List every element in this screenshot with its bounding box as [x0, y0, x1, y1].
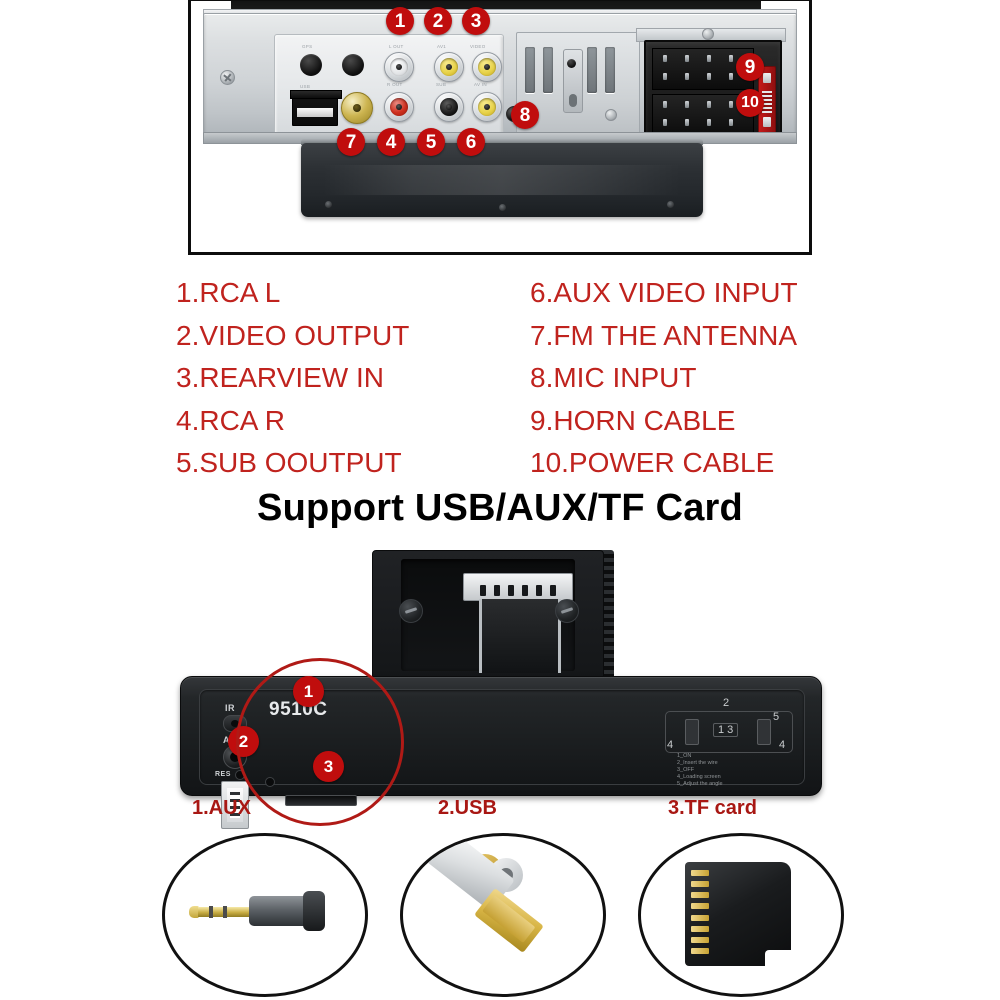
legend-item-9: 9.HORN CABLE: [530, 400, 798, 443]
legend-item-5: 5.SUB OOUTPUT: [176, 442, 409, 485]
silk-label-av-in: AV IN: [474, 82, 487, 87]
microsd-notch: [765, 950, 791, 966]
sled-screw: [667, 201, 674, 208]
legend-item-10: 10.POWER CABLE: [530, 442, 798, 485]
instruction-device-right: [757, 719, 771, 745]
stereo-chassis: GPS USB L OUT AV1 VIDEO R OUT SUB AV IN: [203, 13, 797, 139]
callout-badge-5-text: 5: [426, 133, 437, 152]
rca-jack-l-out: [384, 52, 414, 82]
microsd-body: [685, 862, 791, 966]
usb-port: [292, 94, 338, 126]
cradle-screw-right: [555, 599, 579, 623]
rca-pin: [484, 64, 490, 70]
legend-column-left: 1.RCA L 2.VIDEO OUTPUT 3.REARVIEW IN 4.R…: [176, 272, 409, 485]
ribbon-cable: [479, 599, 561, 673]
callout-badge-3: 3: [462, 7, 490, 35]
legend-column-right: 6.AUX VIDEO INPUT 7.FM THE ANTENNA 8.MIC…: [530, 272, 798, 485]
callout-badge-1: 1: [386, 7, 414, 35]
callout-badge-3-text: 3: [471, 12, 482, 31]
microsd-card-icon: [641, 836, 841, 994]
silk-label-gps: GPS: [302, 44, 312, 49]
vent-slot: [543, 47, 553, 93]
iso-mount-screw: [702, 28, 714, 40]
callout-badge-6: 6: [457, 128, 485, 156]
bracket-pilot-hole: [567, 59, 576, 68]
instruction-line-2: 2_Insert the wire: [677, 760, 723, 767]
rca-pin: [446, 64, 452, 70]
callout-badge-6-text: 6: [466, 133, 477, 152]
vent-slot: [587, 47, 597, 93]
sled-screw: [499, 204, 506, 211]
accessory-label-tf: 3.TF card: [668, 797, 757, 820]
callout-badge-8: 8: [511, 101, 539, 129]
silk-label-sub: SUB: [436, 82, 446, 87]
callout-badge-1-text: 1: [395, 12, 406, 31]
callout-badge-2: 2: [424, 7, 452, 35]
instruction-text-list: 1_ON 2_Insert the wire 3_OFF 4_Loading s…: [677, 753, 723, 788]
vent-slot: [525, 47, 535, 93]
vent-slot: [605, 47, 615, 93]
mounting-sled: [301, 143, 703, 217]
instruction-line-1: 1_ON: [677, 753, 723, 760]
instruction-num-4-left: 4: [667, 739, 673, 751]
aux-plug-icon: [165, 836, 365, 994]
instruction-num-5: 5: [773, 711, 779, 723]
vented-bracket-plate: [516, 32, 640, 146]
usb-port-hood: [290, 90, 342, 99]
legend-item-3: 3.REARVIEW IN: [176, 357, 409, 400]
aux-plug-collar: [303, 891, 325, 931]
rca-pin: [446, 104, 452, 110]
legend-item-4: 4.RCA R: [176, 400, 409, 443]
rca-pin: [396, 104, 402, 110]
gps-antenna-hole: [300, 54, 322, 76]
rca-jack-r-out: [384, 92, 414, 122]
rear-panel-photo: GPS USB L OUT AV1 VIDEO R OUT SUB AV IN: [191, 1, 809, 252]
silk-label-l-out: L OUT: [389, 44, 404, 49]
legend-item-1: 1.RCA L: [176, 272, 409, 315]
silk-label-av1: AV1: [437, 44, 446, 49]
rca-jack-sub-out: [434, 92, 464, 122]
rear-panel-photo-frame: GPS USB L OUT AV1 VIDEO R OUT SUB AV IN: [188, 0, 812, 255]
cradle-screw-left: [399, 599, 423, 623]
legend-item-8: 8.MIC INPUT: [530, 357, 798, 400]
instruction-num-center: 1 3: [713, 723, 738, 737]
callout-badge-9: 9: [736, 53, 764, 81]
rca-jack-av1: [434, 52, 464, 82]
usb-flash-drive-icon: [403, 836, 603, 994]
accessory-oval-tf: [638, 833, 844, 997]
callout-badge-10: 10: [736, 89, 764, 117]
callout-badge-7: 7: [337, 128, 365, 156]
screen-cradle: [372, 550, 604, 680]
callout-badge-2-text: 2: [433, 12, 444, 31]
ir-label: IR: [225, 703, 235, 713]
ribbon-cable-connector: [463, 573, 573, 601]
legend-item-7: 7.FM THE ANTENNA: [530, 315, 798, 358]
callout-badge-10-text: 10: [741, 95, 759, 111]
instruction-plate: 2 5 4 4 1 3 1_ON 2_Insert the wire 3_OFF…: [661, 697, 797, 779]
fm-antenna-pin: [353, 104, 361, 112]
microsd-contacts: [691, 870, 709, 954]
port-highlight-circle: [236, 658, 404, 826]
res-label: RES: [215, 771, 231, 778]
silk-label-usb: USB: [300, 84, 310, 89]
legend-item-6: 6.AUX VIDEO INPUT: [530, 272, 798, 315]
accessory-label-usb: 2.USB: [438, 797, 497, 820]
instruction-num-2: 2: [723, 697, 729, 709]
rca-pin: [396, 64, 402, 70]
usb-port-tab: [297, 108, 333, 117]
instruction-line-3: 3_OFF: [677, 767, 723, 774]
rca-pin: [484, 104, 490, 110]
accessory-oval-usb: [400, 833, 606, 997]
instruction-line-4: 4_Loading screen: [677, 774, 723, 781]
accessory-label-aux: 1.AUX: [192, 797, 251, 820]
callout-badge-7-text: 7: [346, 133, 357, 152]
callout-badge-9-text: 9: [745, 58, 756, 77]
cradle-well: [401, 559, 575, 671]
spare-hole: [342, 54, 364, 76]
callout-badge-4-text: 4: [386, 133, 397, 152]
sled-sheen: [323, 165, 681, 195]
rca-jack-video-out: [472, 52, 502, 82]
instruction-num-4-right: 4: [779, 739, 785, 751]
callout-badge-4: 4: [377, 128, 405, 156]
aux-plug-ring: [209, 906, 213, 918]
iso-connector-block: [644, 40, 782, 144]
silk-label-video: VIDEO: [470, 44, 486, 49]
instruction-line-5: 5_Adjust the angle: [677, 781, 723, 788]
callout-badge-5: 5: [417, 128, 445, 156]
instruction-device-left: [685, 719, 699, 745]
section-title: Support USB/AUX/TF Card: [0, 487, 1000, 530]
silk-label-r-out: R OUT: [387, 82, 403, 87]
sled-screw: [325, 201, 332, 208]
accessory-oval-aux: [162, 833, 368, 997]
aux-plug-ring: [223, 906, 227, 918]
bracket-screw: [605, 109, 617, 121]
chassis-screw-left: [220, 70, 235, 85]
legend-item-2: 2.VIDEO OUTPUT: [176, 315, 409, 358]
rca-jack-av-in: [472, 92, 502, 122]
callout-badge-8-text: 8: [520, 106, 531, 125]
fm-antenna-jack: [341, 92, 373, 124]
